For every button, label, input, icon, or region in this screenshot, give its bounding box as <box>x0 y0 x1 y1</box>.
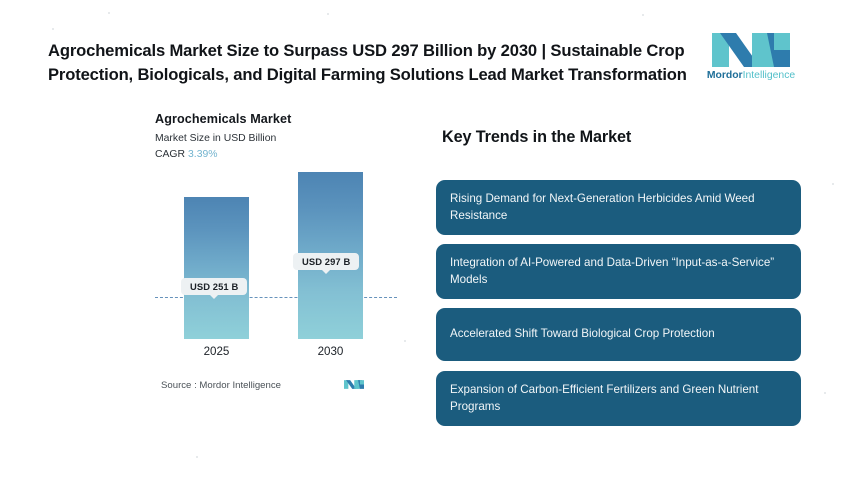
trend-card-2[interactable]: Integration of AI-Powered and Data-Drive… <box>436 244 801 299</box>
mordor-intelligence-logo: MordorIntelligence <box>703 33 799 89</box>
noise-speck <box>327 13 329 15</box>
x-axis-tick-2025: 2025 <box>184 345 249 358</box>
page-title: Agrochemicals Market Size to Surpass USD… <box>48 39 698 86</box>
cagr-value: 3.39% <box>188 149 217 160</box>
trend-card-3-text: Accelerated Shift Toward Biological Crop… <box>450 326 715 342</box>
trend-card-2-text: Integration of AI-Powered and Data-Drive… <box>450 255 787 288</box>
brand-wordmark: MordorIntelligence <box>703 71 799 81</box>
chart-title: Agrochemicals Market <box>155 112 405 126</box>
infographic-page: Agrochemicals Market Size to Surpass USD… <box>0 0 860 484</box>
noise-speck <box>832 183 834 185</box>
trend-card-4-text: Expansion of Carbon-Efficient Fertilizer… <box>450 382 787 415</box>
noise-speck <box>642 14 644 16</box>
noise-speck <box>824 392 826 394</box>
chart-source-label: Source : Mordor Intelligence <box>161 380 281 391</box>
bar-value-label-2030: USD 297 B <box>293 253 359 270</box>
chart-source-row: Source : Mordor Intelligence <box>155 379 397 395</box>
noise-speck <box>196 456 198 458</box>
trend-card-3[interactable]: Accelerated Shift Toward Biological Crop… <box>436 308 801 361</box>
trend-card-1-text: Rising Demand for Next-Generation Herbic… <box>450 191 787 224</box>
mordor-m-icon <box>712 33 790 67</box>
bar-value-label-2025: USD 251 B <box>181 278 247 295</box>
trend-card-4[interactable]: Expansion of Carbon-Efficient Fertilizer… <box>436 371 801 426</box>
bar-chart-plot: USD 251 B USD 297 B 2025 2030 Source : M… <box>155 176 405 427</box>
chart-panel: Agrochemicals Market Market Size in USD … <box>155 112 405 427</box>
chart-cagr: CAGR3.39% <box>155 149 405 160</box>
key-trends-heading: Key Trends in the Market <box>442 128 631 147</box>
bar-2025 <box>184 197 249 339</box>
x-axis-tick-2030: 2030 <box>298 345 363 358</box>
mordor-m-small-icon <box>344 379 364 390</box>
noise-speck <box>52 28 54 30</box>
chart-subtitle: Market Size in USD Billion <box>155 133 405 144</box>
trend-card-1[interactable]: Rising Demand for Next-Generation Herbic… <box>436 180 801 235</box>
noise-speck <box>108 12 110 14</box>
cagr-label: CAGR <box>155 149 185 160</box>
brand-name-secondary: Intelligence <box>743 70 796 81</box>
brand-name-primary: Mordor <box>707 70 743 81</box>
